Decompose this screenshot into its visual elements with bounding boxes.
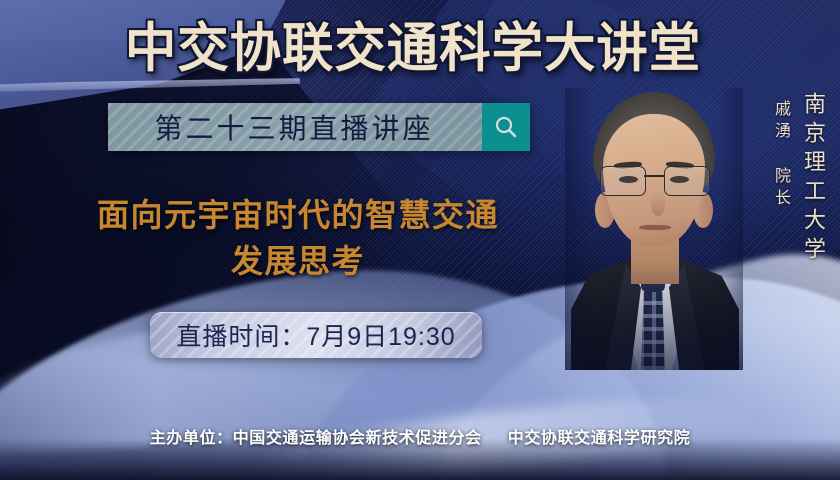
lecture-title-line-2: 发展思考 — [38, 238, 558, 284]
search-icon — [493, 114, 519, 140]
organizer-primary: 主办单位：中国交通运输协会新技术促进分会 — [150, 430, 482, 447]
episode-banner-body: 第二十三期直播讲座 — [108, 103, 482, 151]
organizer-footer: 主办单位：中国交通运输协会新技术促进分会中交协联交通科学研究院 — [0, 424, 840, 448]
search-button[interactable] — [482, 103, 530, 151]
lecture-title: 面向元宇宙时代的智慧交通 发展思考 — [38, 192, 558, 284]
portrait-edge-fade — [565, 88, 743, 370]
lecture-poster: 中交协联交通科学大讲堂 第二十三期直播讲座 面向元宇宙时代的智慧交通 发展思考 … — [0, 0, 840, 480]
speaker-portrait — [565, 88, 743, 370]
lecture-title-line-1: 面向元宇宙时代的智慧交通 — [38, 192, 558, 238]
page-title: 中交协联交通科学大讲堂 — [117, 17, 709, 81]
speaker-name-title: 戚湧 院长 — [768, 100, 792, 211]
broadcast-time-label: 直播时间：7月9日19:30 — [176, 317, 455, 353]
organizer-secondary: 中交协联交通科学研究院 — [508, 430, 691, 447]
speaker-university: 南京理工大学 — [797, 92, 829, 266]
episode-label: 第二十三期直播讲座 — [154, 107, 435, 147]
broadcast-time-badge: 直播时间：7月9日19:30 — [150, 312, 482, 358]
episode-banner: 第二十三期直播讲座 — [108, 103, 530, 151]
